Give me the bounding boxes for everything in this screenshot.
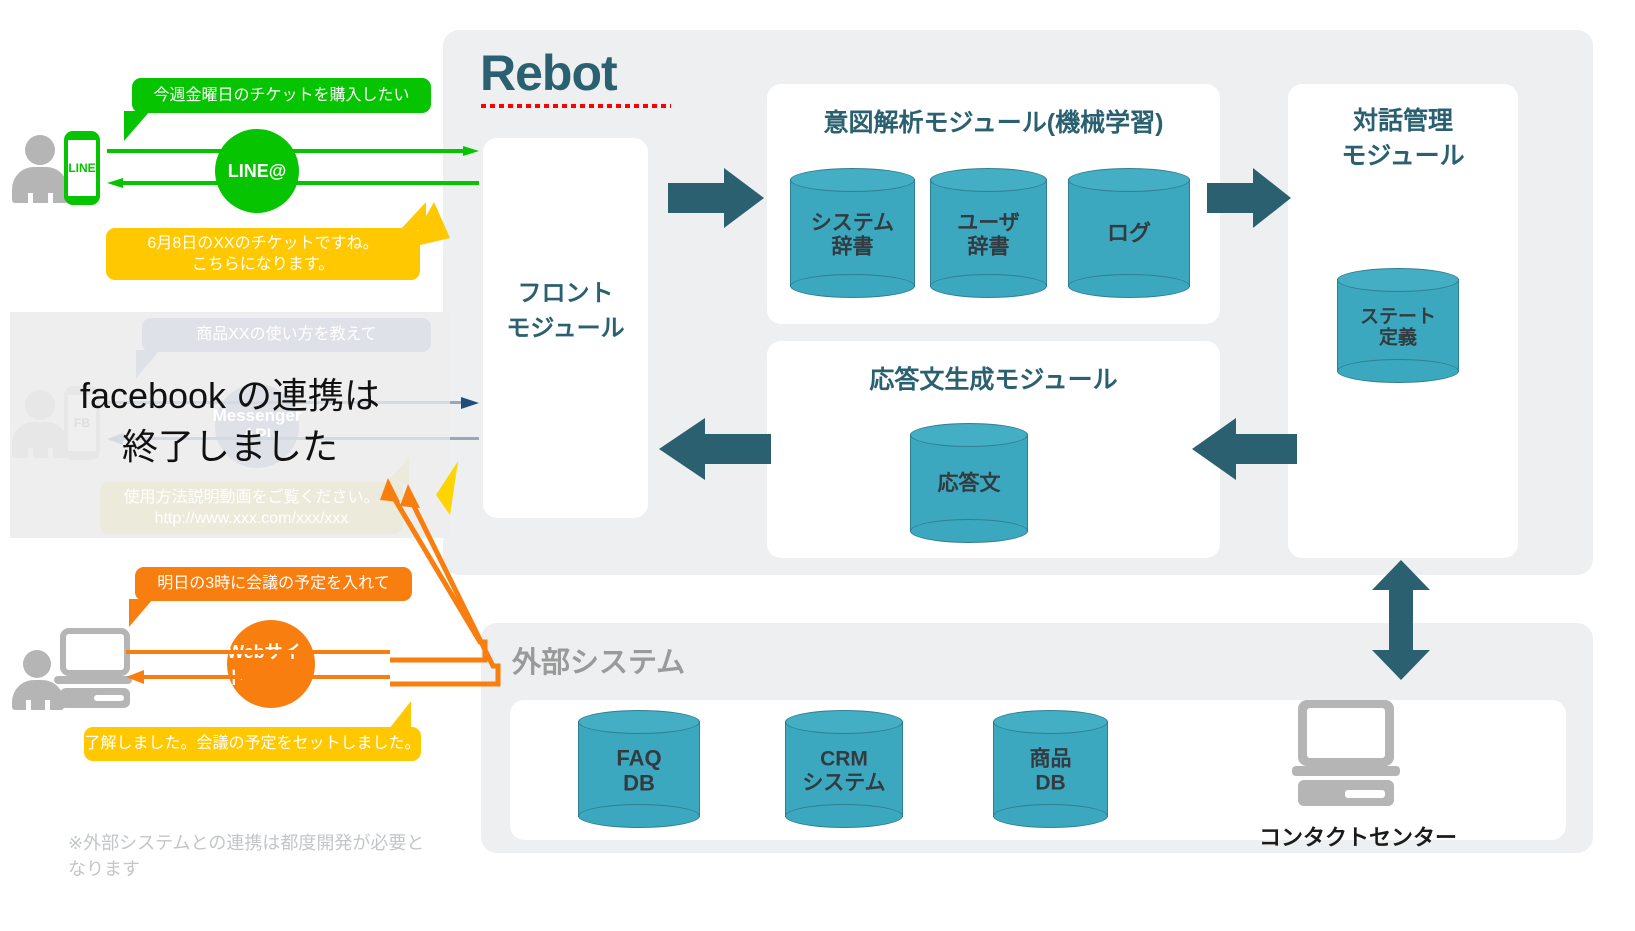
cylinder-faq-db: FAQ DB [578,710,700,828]
yellow-tail-accent-line [404,198,464,258]
intent-module-title: 意図解析モジュール(機械学習) [767,106,1220,141]
cylinder-label: ユーザ 辞書 [930,211,1047,258]
channel-circle-line: LINE@ [215,129,299,213]
cylinder-label: 商品 DB [993,747,1108,794]
front-module-title: フロント モジュール [483,277,648,347]
arrow-dialog-external-bidirectional [1372,560,1430,680]
external-systems-title: 外部システム [512,639,685,681]
phone-tag-label: LINE [67,161,97,175]
facebook-disabled-message: facebook の連携は 終了しました [10,370,450,472]
spellcheck-underline [481,104,671,108]
website-line-top [126,648,390,656]
cylinder-label: ログ [1068,222,1190,247]
yellow-tail-accent [430,455,490,525]
cylinder-label: FAQ DB [578,746,700,795]
dialog-module-title: 対話管理 モジュール [1288,104,1518,173]
cylinder-system-dictionary: システム 辞書 [790,168,915,298]
cylinder-label: 応答文 [910,472,1028,496]
bubble-text: 明日の3時に会議の予定を入れて [157,573,389,594]
bubble-text: 今週金曜日のチケットを購入したい [153,85,409,106]
bubble-line-bot-message: 6月8日のXXのチケットですね。 こちらになります。 [106,228,420,280]
bubble-text: 6月8日のXXのチケットですね。 こちらになります。 [147,233,378,275]
contact-center-label: コンタクトセンター [1228,820,1488,852]
footnote-text: ※外部システムとの連携は都度開発が必要と なります [68,830,468,882]
line-arrow-user-to-front [107,146,479,156]
cylinder-user-dictionary: ユーザ 辞書 [930,168,1047,298]
channel-circle-website: Webサイト [227,620,315,708]
cylinder-label: ステート 定義 [1337,306,1459,349]
cylinder-log: ログ [1068,168,1190,298]
arrow-front-to-intent [668,168,764,228]
bubble-website-user-message: 明日の3時に会議の予定を入れて [135,567,412,601]
bubble-line-user-message: 今週金曜日のチケットを購入したい [132,78,431,113]
bubble-website-bot-message: 了解しました。会議の予定をセットしました。 [84,727,421,761]
response-module-title: 応答文生成モジュール [767,363,1220,398]
contact-center-pc-icon [1290,700,1402,810]
arrow-response-to-front [659,418,771,480]
cylinder-crm-system: CRM システム [785,710,903,828]
page-title: Rebot [480,48,617,98]
cylinder-response-text: 応答文 [910,423,1028,543]
channel-circle-label: Webサイト [227,638,315,690]
arrow-intent-to-dialog [1207,168,1291,228]
arrow-dialog-to-response [1192,418,1297,480]
person-icon-line [12,135,68,203]
bubble-text: 了解しました。会議の予定をセットしました。 [84,733,420,754]
cylinder-label: CRM システム [785,747,903,794]
pc-icon-website [54,628,132,710]
phone-icon-line: LINE [64,131,100,205]
cylinder-product-db: 商品 DB [993,710,1108,828]
line-arrow-front-to-user [107,178,479,188]
cylinder-label: システム 辞書 [790,211,915,258]
cylinder-state-definition: ステート 定義 [1337,268,1459,383]
website-arrow-to-user [126,672,390,682]
